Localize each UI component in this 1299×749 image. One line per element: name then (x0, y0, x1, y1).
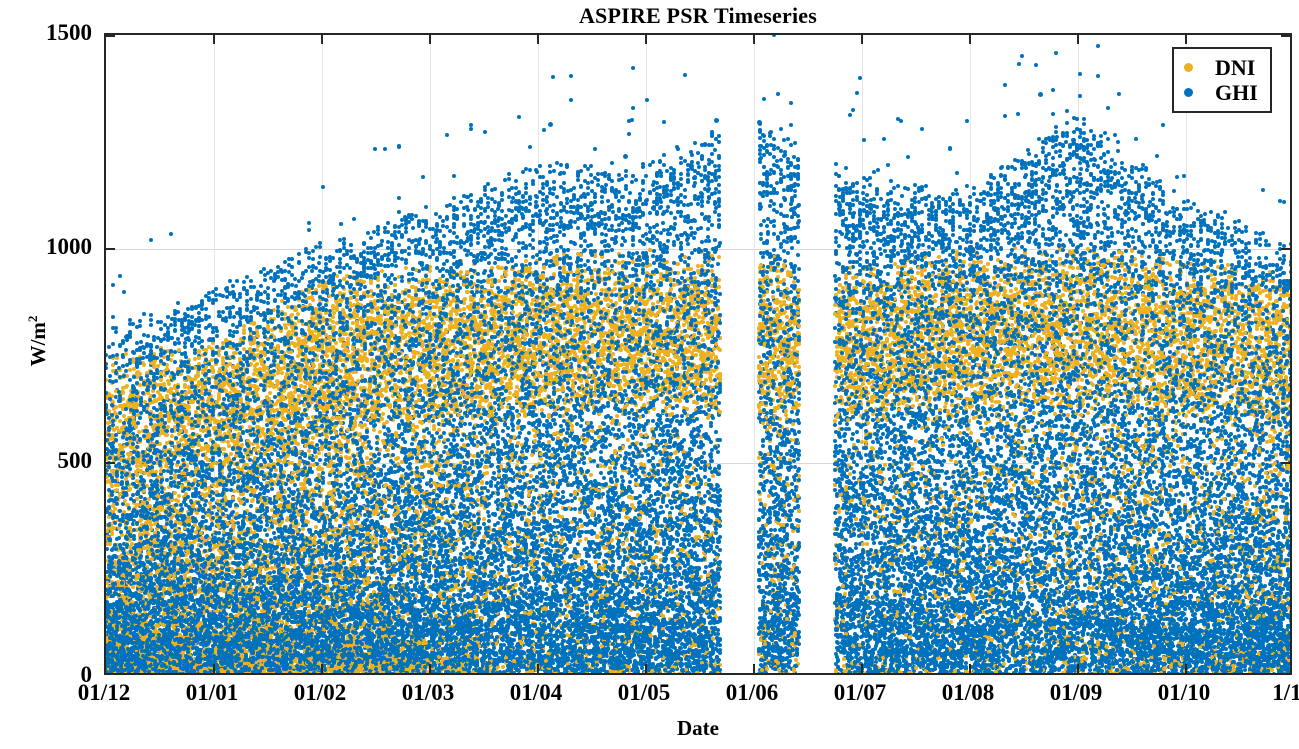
legend-label-ghi: GHI (1215, 82, 1258, 104)
x-tick-label-9: 01/09 (1050, 680, 1102, 706)
x-tick-label-2: 01/02 (294, 680, 346, 706)
y-axis-title-exponent: 2 (25, 316, 40, 323)
x-tick-5 (645, 35, 647, 44)
y-tick-label-500: 500 (58, 448, 93, 474)
page-title: ASPIRE PSR Timeseries (104, 2, 1292, 30)
x-tick-1 (213, 35, 215, 44)
x-tick-3 (429, 35, 431, 44)
plot-clip (106, 35, 1290, 673)
series-ghi (106, 35, 1290, 673)
y-tick-500 (106, 462, 115, 464)
legend-item-dni[interactable]: DNI (1184, 55, 1258, 80)
x-tick-label-10: 01/10 (1158, 680, 1210, 706)
y-tick-1000 (106, 248, 115, 250)
y-tick-500 (1281, 462, 1290, 464)
x-tick-label-5: 01/05 (618, 680, 670, 706)
y-axis-title: W/m2 (25, 281, 51, 401)
legend-marker-dni-icon (1184, 63, 1193, 72)
x-tick-1 (213, 664, 215, 673)
legend-label-dni: DNI (1215, 57, 1255, 79)
y-axis-title-text: W/m (26, 322, 50, 366)
x-tick-4 (537, 664, 539, 673)
x-tick-5 (645, 664, 647, 673)
x-tick-9 (1077, 35, 1079, 44)
legend-item-ghi[interactable]: GHI (1184, 80, 1258, 105)
x-tick-10 (1185, 35, 1187, 44)
y-tick-label-1000: 1000 (46, 234, 92, 260)
y-tick-1500 (1281, 35, 1290, 37)
x-tick-label-6: 01/06 (726, 680, 778, 706)
legend-marker-ghi-icon (1184, 88, 1193, 97)
x-tick-label-3: 01/03 (402, 680, 454, 706)
plot-area (104, 33, 1292, 675)
x-tick-label-1: 01/01 (186, 680, 238, 706)
x-tick-3 (429, 664, 431, 673)
x-tick-8 (969, 35, 971, 44)
x-tick-7 (861, 664, 863, 673)
x-tick-label-4: 01/04 (510, 680, 562, 706)
x-tick-label-7: 01/07 (834, 680, 886, 706)
x-tick-6 (753, 664, 755, 673)
x-tick-7 (861, 35, 863, 44)
x-tick-label-8: 01/08 (942, 680, 994, 706)
x-tick-6 (753, 35, 755, 44)
y-tick-label-0: 0 (81, 662, 93, 688)
y-tick-label-1500: 1500 (46, 20, 92, 46)
x-tick-4 (537, 35, 539, 44)
x-axis-title: Date (104, 716, 1292, 741)
x-tick-10 (1185, 664, 1187, 673)
x-tick-9 (1077, 664, 1079, 673)
x-tick-8 (969, 664, 971, 673)
y-tick-1000 (1281, 248, 1290, 250)
chart-figure: ASPIRE PSR Timeseries 01/1201/0101/0201/… (0, 0, 1299, 749)
x-tick-2 (321, 35, 323, 44)
y-tick-1500 (106, 35, 115, 37)
x-tick-label-11: 1/11 (1272, 680, 1299, 706)
legend[interactable]: DNIGHI (1172, 47, 1272, 113)
x-tick-2 (321, 664, 323, 673)
